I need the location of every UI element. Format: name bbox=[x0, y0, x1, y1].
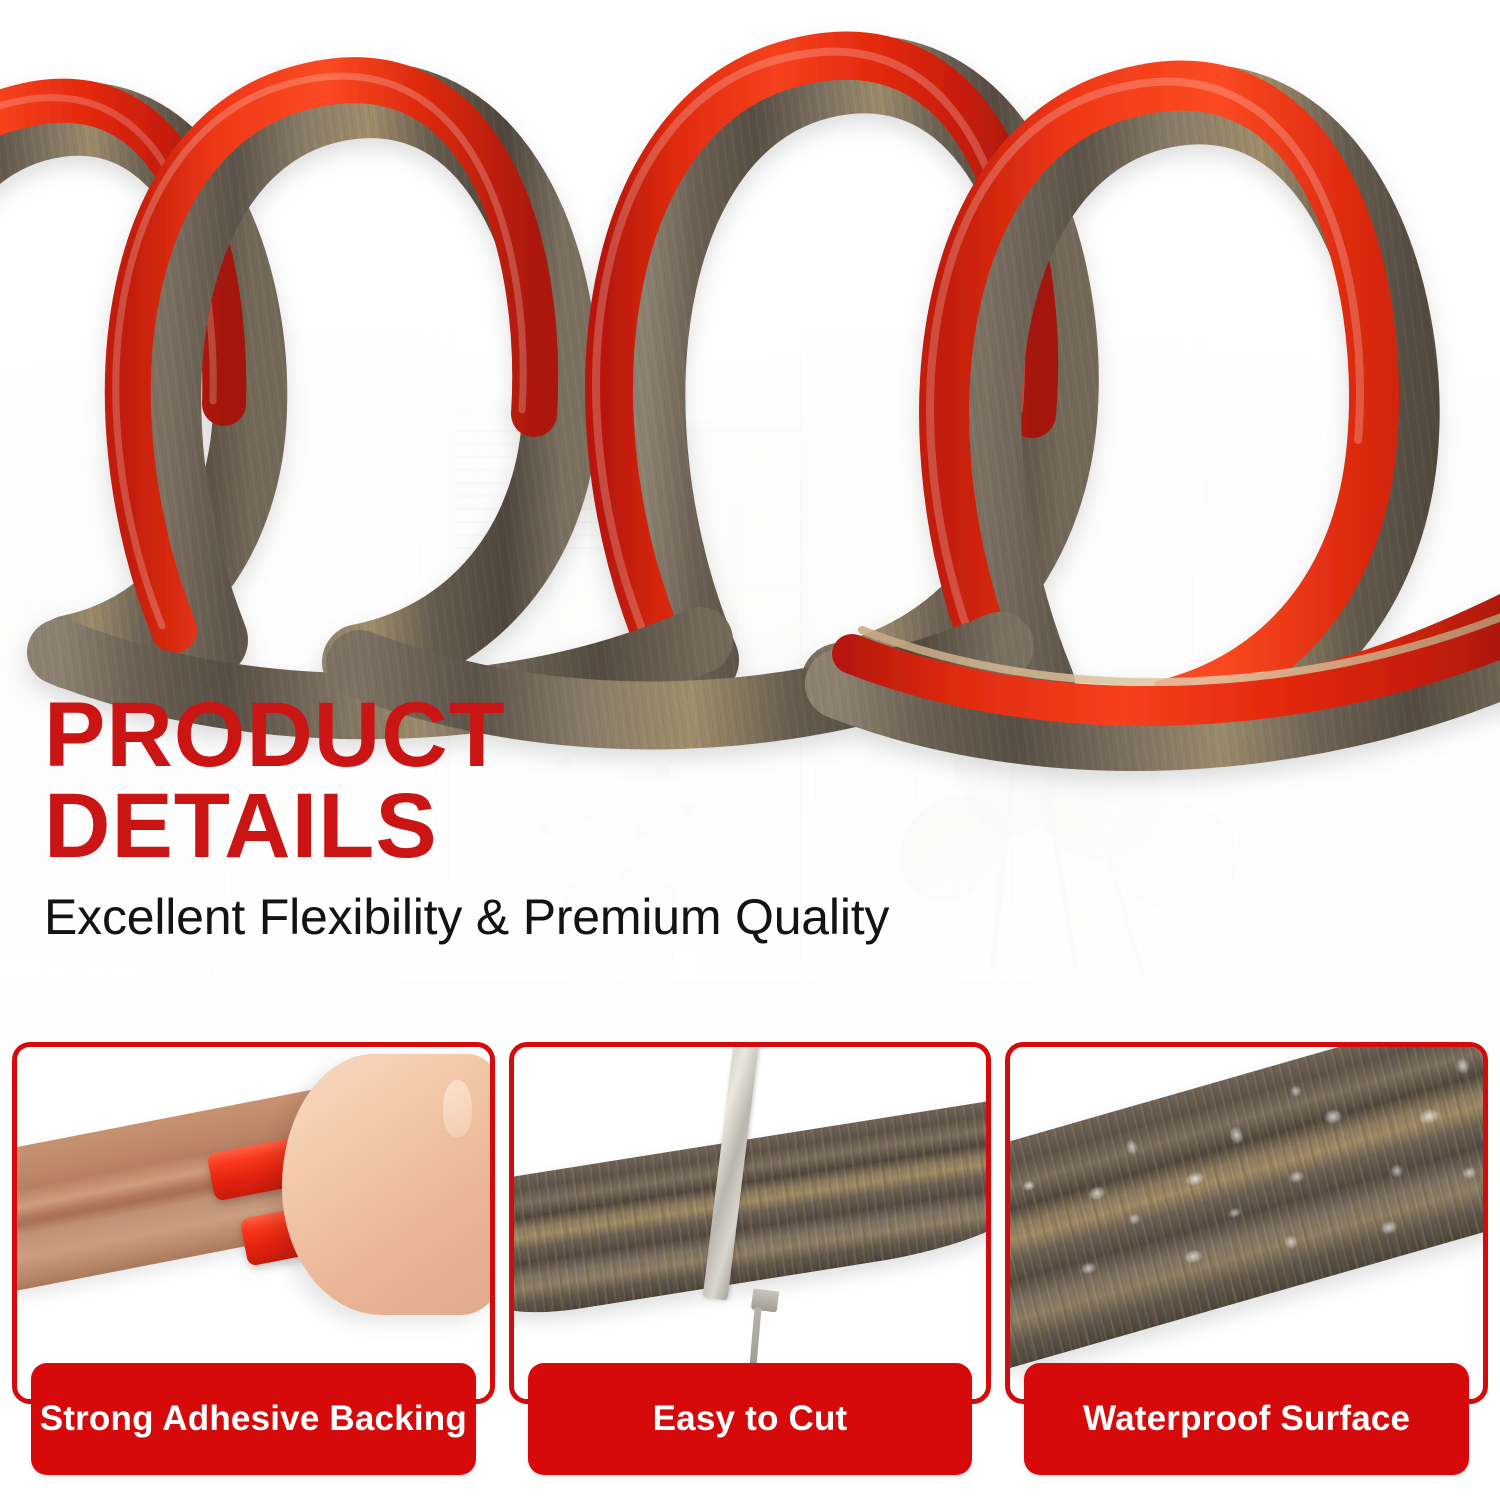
background-window-right-upper bbox=[1200, 415, 1500, 783]
title-block: PRODUCT DETAILS Excellent Flexibility & … bbox=[44, 690, 1224, 944]
window-glass bbox=[1209, 424, 1499, 774]
feature-photo-waterproof bbox=[1010, 1047, 1483, 1399]
headline-line-1: PRODUCT bbox=[44, 684, 506, 786]
page-subtitle: Excellent Flexibility & Premium Quality bbox=[44, 890, 1224, 944]
background-flowers-left bbox=[0, 520, 150, 670]
product-details-marketing-image: PRODUCT DETAILS Excellent Flexibility & … bbox=[0, 0, 1500, 1500]
window-mullion-vertical bbox=[733, 429, 739, 729]
background-roof-tiles bbox=[455, 430, 670, 550]
wood-grain-trim-strip bbox=[514, 1096, 987, 1321]
feature-card-easy-to-cut: Easy to Cut bbox=[509, 1042, 992, 1404]
wet-wood-grain-strip bbox=[1010, 1047, 1483, 1369]
window-mullion-horizontal bbox=[649, 585, 824, 591]
feature-caption-waterproof: Waterproof Surface bbox=[1024, 1363, 1469, 1475]
feature-photo-easy-to-cut bbox=[514, 1047, 987, 1399]
water-droplets bbox=[1010, 1047, 1483, 1369]
window-mullion-vertical bbox=[1337, 424, 1345, 774]
feature-card-adhesive: Strong Adhesive Backing bbox=[12, 1042, 495, 1404]
feature-caption-easy-to-cut: Easy to Cut bbox=[528, 1363, 973, 1475]
feature-caption-adhesive: Strong Adhesive Backing bbox=[31, 1363, 476, 1475]
thumbnail-highlight bbox=[443, 1080, 472, 1137]
feature-photo-adhesive bbox=[17, 1047, 490, 1399]
headline-line-2: DETAILS bbox=[44, 781, 1224, 872]
page-title: PRODUCT DETAILS bbox=[44, 690, 1224, 872]
feature-panel-row: Strong Adhesive Backing Easy to Cut Wate… bbox=[12, 1042, 1488, 1494]
hand-peeling-liner bbox=[282, 1054, 490, 1314]
feature-card-waterproof: Waterproof Surface bbox=[1005, 1042, 1488, 1404]
background-top-fade bbox=[0, 0, 1500, 330]
